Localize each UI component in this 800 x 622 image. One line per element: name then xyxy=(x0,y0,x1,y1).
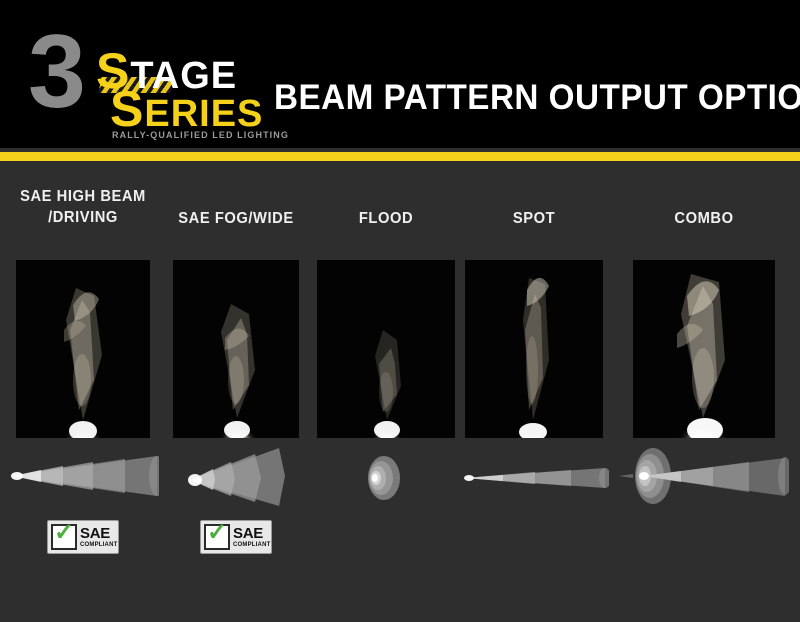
checkbox-icon: ✓ xyxy=(51,524,77,550)
column-label: COMBO xyxy=(616,208,793,229)
beam-diagram-flood xyxy=(354,440,418,512)
sae-compliant-badge-sae-high-beam-driving: ✓ SAE COMPLIANT xyxy=(47,520,119,554)
beam-pattern-poster: 3 STAGE SERIES RALLY-QUALIFIED LED LIGHT… xyxy=(0,0,800,622)
header-bar: 3 STAGE SERIES RALLY-QUALIFIED LED LIGHT… xyxy=(0,0,800,148)
column-label-line2: /DRIVING xyxy=(48,209,118,226)
photo-light-render xyxy=(633,260,775,438)
page-title: BEAM PATTERN OUTPUT OPTIONS xyxy=(274,80,800,115)
beam-diagram-svg xyxy=(7,440,159,512)
badge-text: SAE COMPLIANT xyxy=(233,526,270,548)
column-label: SAE HIGH BEAM /DRIVING xyxy=(7,186,160,228)
check-icon: ✓ xyxy=(54,521,74,545)
column-label-line1: SAE HIGH BEAM xyxy=(20,188,146,205)
photo-light-render xyxy=(465,260,603,438)
column-label: FLOOD xyxy=(318,208,454,229)
badge-text: SAE COMPLIANT xyxy=(80,526,117,548)
column-label-line1: FLOOD xyxy=(359,210,413,227)
beam-diagram-svg xyxy=(459,440,609,512)
sae-badge: ✓ SAE COMPLIANT xyxy=(47,520,119,554)
sae-badge: ✓ SAE COMPLIANT xyxy=(200,520,272,554)
beam-photo-sae-fog-wide xyxy=(173,260,299,438)
beam-diagram-spot xyxy=(459,440,609,512)
column-label-line1: SPOT xyxy=(513,210,555,227)
logo-series-rest: ERIES xyxy=(144,93,263,135)
beam-photo-sae-high-beam-driving xyxy=(16,260,150,438)
column-label: SAE FOG/WIDE xyxy=(172,208,301,229)
brand-logo: 3 STAGE SERIES RALLY-QUALIFIED LED LIGHT… xyxy=(28,22,258,132)
column-label-line1: SAE FOG/WIDE xyxy=(178,210,293,227)
beam-photo-spot xyxy=(465,260,603,438)
photo-light-render xyxy=(16,260,150,438)
beam-diagram-svg xyxy=(619,440,789,512)
logo-numeral-3: 3 xyxy=(28,20,80,124)
beam-photo-combo xyxy=(633,260,775,438)
badge-primary-text: SAE xyxy=(233,526,270,541)
beam-photo-flood xyxy=(317,260,455,438)
sae-compliant-badge-sae-fog-wide: ✓ SAE COMPLIANT xyxy=(200,520,272,554)
photo-light-render xyxy=(317,260,455,438)
logo-series-cap: S xyxy=(110,81,144,137)
beam-pattern-grid: SAE HIGH BEAM /DRIVING xyxy=(0,178,800,578)
badge-secondary-text: COMPLIANT xyxy=(80,542,117,548)
beam-diagram-sae-fog-wide xyxy=(175,440,297,512)
column-label-line1: COMBO xyxy=(674,210,733,227)
badge-secondary-text: COMPLIANT xyxy=(233,542,270,548)
beam-diagram-sae-high-beam-driving xyxy=(7,440,159,512)
column-label: SPOT xyxy=(466,208,602,229)
accent-divider-bar xyxy=(0,152,800,161)
checkbox-icon: ✓ xyxy=(204,524,230,550)
beam-diagram-combo xyxy=(619,440,789,512)
logo-tagline: RALLY-QUALIFIED LED LIGHTING xyxy=(112,130,289,140)
beam-diagram-svg xyxy=(354,440,418,512)
check-icon: ✓ xyxy=(207,521,227,545)
logo-word-series: SERIES xyxy=(110,90,263,133)
beam-diagram-svg xyxy=(175,440,297,512)
badge-primary-text: SAE xyxy=(80,526,117,541)
photo-light-render xyxy=(173,260,299,438)
